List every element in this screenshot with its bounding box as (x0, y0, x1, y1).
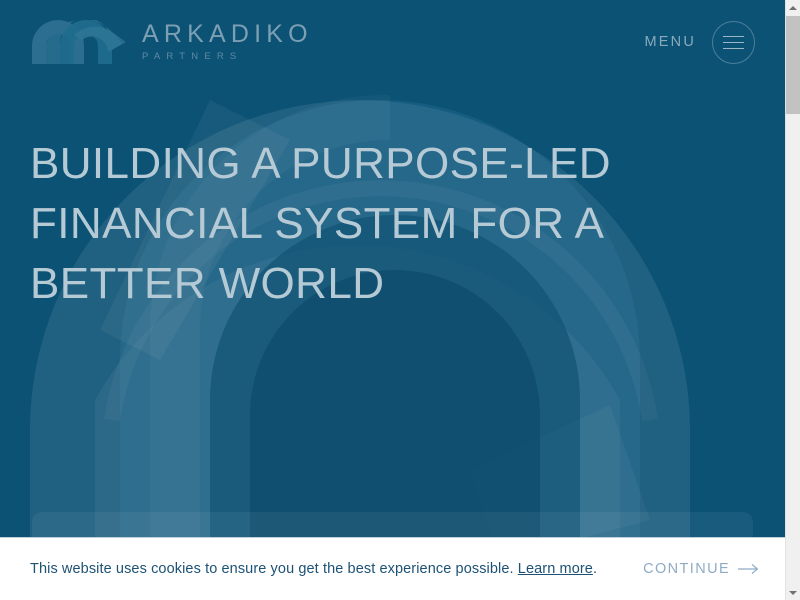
cookie-learn-more-link[interactable]: Learn more (518, 561, 593, 577)
hero-headline: BUILDING A PURPOSE-LED FINANCIAL SYSTEM … (30, 134, 630, 314)
arch-logo-icon (30, 20, 128, 64)
hero-panel (32, 512, 753, 537)
triangle-up-icon (789, 6, 797, 10)
hero-copy: BUILDING A PURPOSE-LED FINANCIAL SYSTEM … (30, 134, 630, 314)
hero-section: ARKADIKO PARTNERS MENU BUILDING A PURPOS… (0, 0, 785, 537)
vertical-scrollbar[interactable] (785, 0, 800, 600)
menu-button[interactable]: MENU (645, 21, 756, 64)
menu-label: MENU (645, 34, 697, 50)
triangle-down-icon (789, 591, 797, 595)
brand-logo[interactable]: ARKADIKO PARTNERS (30, 20, 313, 64)
arrow-right-icon (738, 563, 760, 575)
cookie-continue-button[interactable]: CONTINUE (643, 561, 760, 577)
brand-name: ARKADIKO (142, 21, 313, 47)
cookie-message-text: This website uses cookies to ensure you … (30, 561, 514, 577)
cookie-continue-label: CONTINUE (643, 561, 730, 577)
hamburger-line-1 (723, 36, 744, 37)
scrollbar-thumb[interactable] (786, 16, 800, 114)
scrollbar-down-arrow[interactable] (786, 585, 800, 600)
cookie-message: This website uses cookies to ensure you … (30, 561, 597, 577)
cookie-message-tail: . (593, 561, 597, 577)
hamburger-line-3 (723, 48, 744, 49)
page-viewport: ARKADIKO PARTNERS MENU BUILDING A PURPOS… (0, 0, 785, 600)
hamburger-icon[interactable] (712, 21, 755, 64)
hamburger-line-2 (723, 42, 744, 43)
site-header: ARKADIKO PARTNERS MENU (0, 0, 785, 84)
scrollbar-up-arrow[interactable] (786, 0, 800, 15)
cookie-consent-banner: This website uses cookies to ensure you … (0, 537, 785, 600)
brand-subtitle: PARTNERS (142, 52, 313, 62)
